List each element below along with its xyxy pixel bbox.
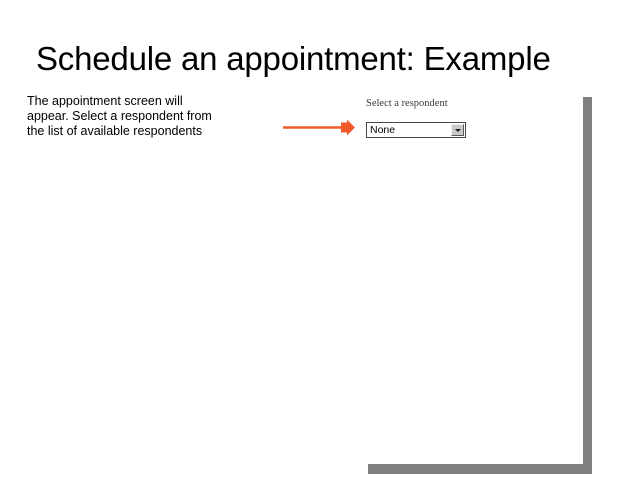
body-text-block: The appointment screen will appear. Sele… xyxy=(27,94,257,139)
arrow-right-icon xyxy=(283,118,363,138)
respondent-field-label: Select a respondent xyxy=(366,98,448,110)
arrow-head xyxy=(341,120,355,136)
body-text-line: appear. Select a respondent from xyxy=(27,109,257,124)
screenshot-shadow-bottom xyxy=(368,464,592,474)
screenshot-shadow-right xyxy=(583,97,592,474)
triangle-glyph xyxy=(455,129,461,132)
page-title: Schedule an appointment: Example xyxy=(36,40,616,78)
respondent-select-value: None xyxy=(370,124,395,137)
body-text-line: The appointment screen will xyxy=(27,94,257,109)
respondent-select[interactable]: None xyxy=(366,122,466,138)
slide-canvas: Schedule an appointment: Example The app… xyxy=(0,0,640,480)
chevron-down-icon[interactable] xyxy=(451,124,464,136)
embedded-screenshot: Select a respondent None xyxy=(364,96,580,146)
body-text-line: the list of available respondents xyxy=(27,124,257,139)
